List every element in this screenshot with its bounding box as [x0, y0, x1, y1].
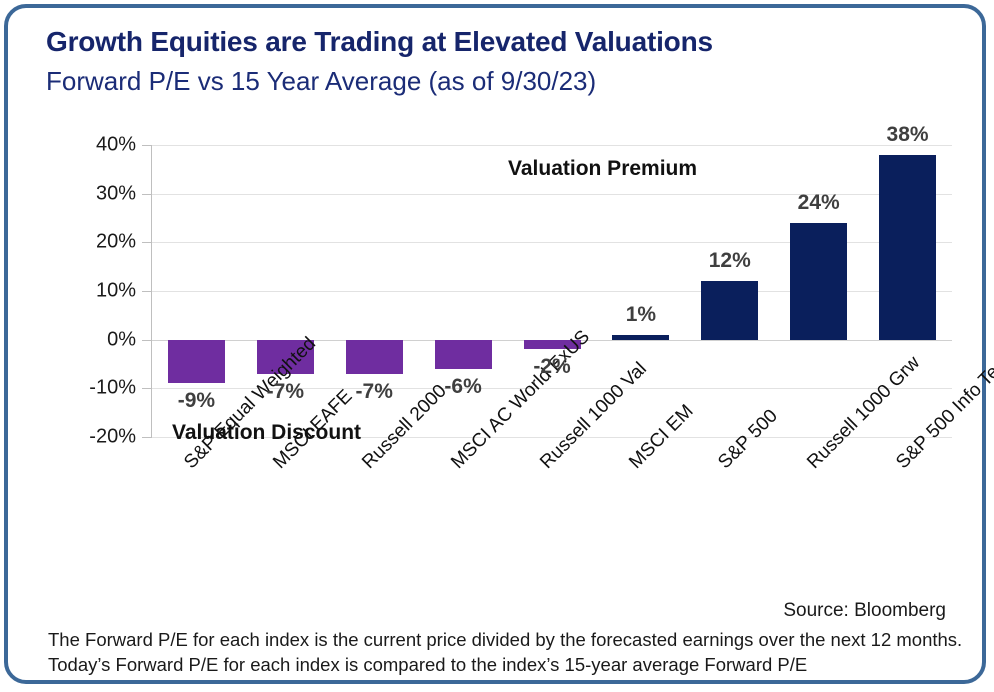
y-axis-tick-label: -20% [44, 426, 136, 449]
bar[interactable] [257, 340, 314, 374]
bar[interactable] [790, 223, 847, 340]
bar[interactable] [879, 155, 936, 340]
bar-value-label: 1% [626, 303, 656, 327]
y-axis-tick [142, 291, 152, 292]
footnote-line-1: The Forward P/E for each index is the cu… [48, 629, 962, 651]
annotation-valuation-premium: Valuation Premium [508, 157, 697, 181]
y-axis-tick [142, 437, 152, 438]
bar-value-label: -6% [444, 375, 481, 399]
bar[interactable] [168, 340, 225, 384]
bar-value-label: 24% [798, 191, 840, 215]
bar-value-label: -7% [356, 380, 393, 404]
bar-value-label: 38% [887, 123, 929, 147]
bar-value-label: -9% [178, 389, 215, 413]
bar-value-label: 12% [709, 249, 751, 273]
y-axis-tick [142, 388, 152, 389]
chart-page: Growth Equities are Trading at Elevated … [0, 0, 994, 692]
bar[interactable] [435, 340, 492, 369]
source-note: Source: Bloomberg [783, 600, 946, 622]
y-axis-tick [142, 145, 152, 146]
annotation-valuation-discount: Valuation Discount [172, 421, 361, 445]
y-axis-tick-label: 30% [44, 182, 136, 205]
y-axis-tick [142, 340, 152, 341]
gridline [152, 145, 952, 146]
bar[interactable] [524, 340, 581, 350]
y-axis-tick-label: 10% [44, 280, 136, 303]
y-axis-tick-label: 0% [44, 328, 136, 351]
bar-value-label: -2% [533, 355, 570, 379]
y-axis-tick-label: 20% [44, 231, 136, 254]
page-title: Growth Equities are Trading at Elevated … [46, 26, 713, 58]
y-axis-tick-label: 40% [44, 134, 136, 157]
bar[interactable] [612, 335, 669, 340]
bar[interactable] [346, 340, 403, 374]
bar-value-label: -7% [267, 380, 304, 404]
bar[interactable] [701, 281, 758, 339]
page-subtitle: Forward P/E vs 15 Year Average (as of 9/… [46, 66, 596, 97]
footnote-line-2: Today’s Forward P/E for each index is co… [48, 654, 807, 676]
y-axis-tick [142, 242, 152, 243]
y-axis-tick-label: -10% [44, 377, 136, 400]
y-axis-labels: 40%30%20%10%0%-10%-20% [36, 145, 136, 437]
y-axis-tick [142, 194, 152, 195]
